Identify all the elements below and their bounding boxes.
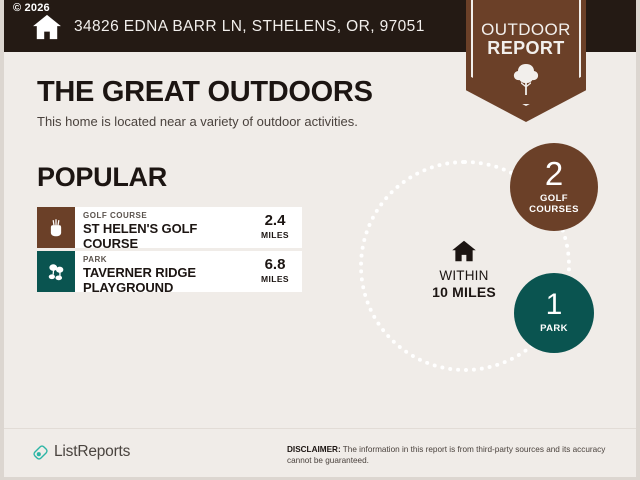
list-item-text: GOLF COURSE ST HELEN'S GOLF COURSE [75, 207, 248, 248]
page-title: THE GREAT OUTDOORS [37, 76, 373, 109]
badge-line2: REPORT [466, 38, 586, 59]
miles-label: 10 MILES [402, 284, 526, 300]
stat-label-line2: COURSES [529, 205, 579, 216]
stat-label: GOLF COURSES [529, 194, 579, 216]
list-item-name: ST HELEN'S GOLF COURSE [83, 222, 244, 248]
stat-count: 1 [546, 291, 563, 320]
distance-value: 2.4 [248, 213, 302, 228]
property-address: 34826 EDNA BARR LN, STHELENS, OR, 97051 [74, 18, 425, 36]
home-icon [451, 240, 477, 262]
stat-count: 2 [545, 158, 563, 189]
logo-text: ListReports [54, 443, 130, 461]
within-label: WITHIN [402, 268, 526, 283]
distance-unit: MILES [248, 230, 302, 240]
stat-golf-courses: 2 GOLF COURSES [510, 143, 598, 231]
home-icon [32, 14, 62, 40]
list-item-text: PARK TAVERNER RIDGE PLAYGROUND [75, 251, 248, 292]
tree-icon [510, 62, 542, 96]
distance-unit: MILES [248, 274, 302, 284]
disclaimer: DISCLAIMER: The information in this repo… [287, 444, 612, 467]
list-item-distance: 6.8 MILES [248, 251, 302, 292]
golf-bag-icon [37, 207, 75, 248]
badge-line1: OUTDOOR [466, 20, 586, 40]
footer-divider [4, 428, 636, 429]
park-trees-icon [37, 251, 75, 292]
listreports-pin-icon [32, 444, 49, 461]
stat-label-line1: PARK [540, 324, 568, 335]
copyright-text: © 2026 [13, 3, 50, 14]
list-item-name: TAVERNER RIDGE PLAYGROUND [83, 266, 244, 292]
listreports-logo[interactable]: ListReports [32, 443, 130, 461]
page-subtitle: This home is located near a variety of o… [37, 114, 358, 129]
list-item-category: GOLF COURSE [83, 212, 244, 221]
list-item[interactable]: GOLF COURSE ST HELEN'S GOLF COURSE 2.4 M… [37, 207, 302, 248]
popular-heading: POPULAR [37, 162, 167, 193]
outdoor-report-badge: OUTDOOR REPORT [466, 0, 586, 122]
distance-value: 6.8 [248, 257, 302, 272]
report-page: © 2026 34826 EDNA BARR LN, STHELENS, OR,… [0, 0, 640, 480]
stat-label: PARK [540, 324, 568, 335]
list-item-category: PARK [83, 256, 244, 265]
stat-parks: 1 PARK [514, 273, 594, 353]
list-item[interactable]: PARK TAVERNER RIDGE PLAYGROUND 6.8 MILES [37, 251, 302, 292]
list-item-distance: 2.4 MILES [248, 207, 302, 248]
popular-list: GOLF COURSE ST HELEN'S GOLF COURSE 2.4 M… [37, 207, 302, 295]
disclaimer-label: DISCLAIMER: [287, 445, 341, 454]
